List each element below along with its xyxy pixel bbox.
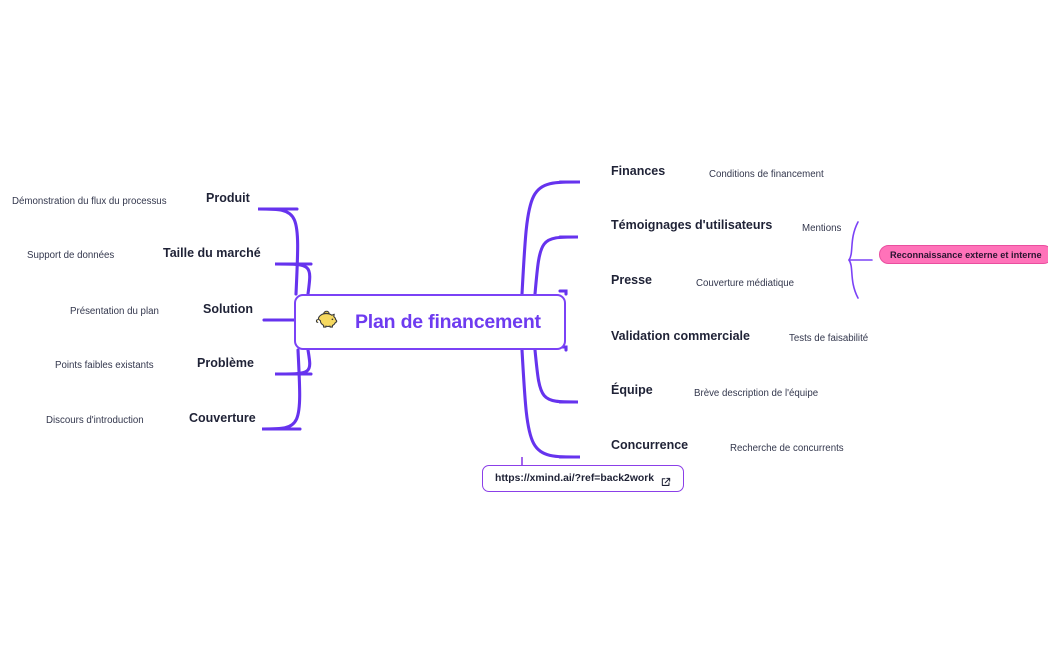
external-link-url: https://xmind.ai/?ref=back2work <box>495 473 654 484</box>
summary-bracket <box>849 222 872 298</box>
external-link-chip[interactable]: https://xmind.ai/?ref=back2work <box>482 465 684 492</box>
topic-concurrence[interactable]: Concurrence <box>611 438 688 452</box>
central-topic[interactable]: Plan de financement <box>294 294 566 350</box>
topic-validation-commerciale[interactable]: Validation commerciale <box>611 329 750 343</box>
summary-badge-label: Reconnaissance externe et interne <box>890 250 1042 260</box>
subtopic-presse[interactable]: Couverture médiatique <box>696 278 794 289</box>
topic-produit[interactable]: Produit <box>206 191 250 205</box>
topic-finances[interactable]: Finances <box>611 164 665 178</box>
subtopic-temoignages-d-utilisateurs[interactable]: Mentions <box>802 223 841 234</box>
topic-temoignages-d-utilisateurs[interactable]: Témoignages d'utilisateurs <box>611 218 772 232</box>
subtopic-equipe[interactable]: Brève description de l'équipe <box>694 388 818 399</box>
subtopic-produit[interactable]: Démonstration du flux du processus <box>12 196 167 207</box>
piggy-bank-icon <box>314 307 342 338</box>
external-link-icon <box>661 474 671 484</box>
topic-equipe[interactable]: Équipe <box>611 383 653 397</box>
subtopic-solution[interactable]: Présentation du plan <box>70 306 159 317</box>
summary-badge[interactable]: Reconnaissance externe et interne <box>879 245 1048 264</box>
subtopic-probleme[interactable]: Points faibles existants <box>55 360 154 371</box>
topic-taille-du-marche[interactable]: Taille du marché <box>163 246 261 260</box>
subtopic-taille-du-marche[interactable]: Support de données <box>27 250 114 261</box>
topic-probleme[interactable]: Problème <box>197 356 254 370</box>
central-topic-label: Plan de financement <box>355 311 541 334</box>
subtopic-couverture[interactable]: Discours d'introduction <box>46 415 144 426</box>
subtopic-concurrence[interactable]: Recherche de concurrents <box>730 443 844 454</box>
subtopic-finances[interactable]: Conditions de financement <box>709 169 824 180</box>
topic-couverture[interactable]: Couverture <box>189 411 256 425</box>
mindmap-canvas: Plan de financement Reconnaissance exter… <box>0 0 1048 650</box>
topic-presse[interactable]: Presse <box>611 273 652 287</box>
topic-solution[interactable]: Solution <box>203 302 253 316</box>
subtopic-validation-commerciale[interactable]: Tests de faisabilité <box>789 333 868 344</box>
